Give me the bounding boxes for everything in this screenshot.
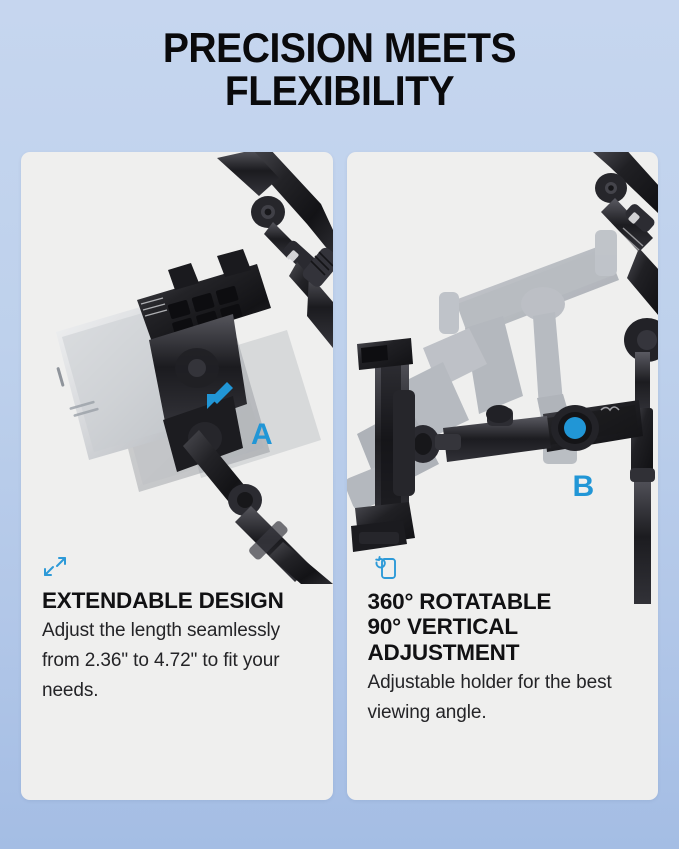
feature-panel-rotatable-adjustment: B 360° ROTATABLE 90° VERTICAL ADJUSTMENT… [347, 152, 659, 800]
rotate-device-icon [368, 556, 637, 580]
extend-arrows-icon [42, 555, 311, 579]
product-photo-rotatable [347, 152, 659, 604]
caption-heading-line-2: 90° VERTICAL [368, 614, 637, 640]
caption-body: Adjustable holder for the best viewing a… [368, 668, 637, 728]
caption-heading-line-3: ADJUSTMENT [368, 640, 637, 666]
caption-heading-line-1: 360° ROTATABLE [368, 589, 637, 615]
callout-label-b: B [573, 472, 595, 502]
tablet-holder-clamp [351, 338, 415, 552]
caption-rotatable-adjustment: 360° ROTATABLE 90° VERTICAL ADJUSTMENT A… [347, 556, 659, 729]
caption-extendable-design: EXTENDABLE DESIGN Adjust the length seam… [21, 555, 333, 707]
feature-panel-extendable-design: A EXTENDABLE DESIGN Adjust the length se… [21, 152, 333, 800]
callout-label-a: A [251, 420, 273, 450]
product-photo-extendable [21, 152, 333, 584]
page-title: PRECISION MEETS FLEXIBILITY [0, 0, 679, 112]
page-title-line-1: PRECISION MEETS [24, 26, 655, 69]
page-title-line-2: FLEXIBILITY [24, 69, 655, 112]
caption-heading: EXTENDABLE DESIGN [42, 588, 311, 614]
feature-panels: A EXTENDABLE DESIGN Adjust the length se… [21, 152, 658, 800]
caption-body: Adjust the length seamlessly from 2.36" … [42, 616, 311, 706]
